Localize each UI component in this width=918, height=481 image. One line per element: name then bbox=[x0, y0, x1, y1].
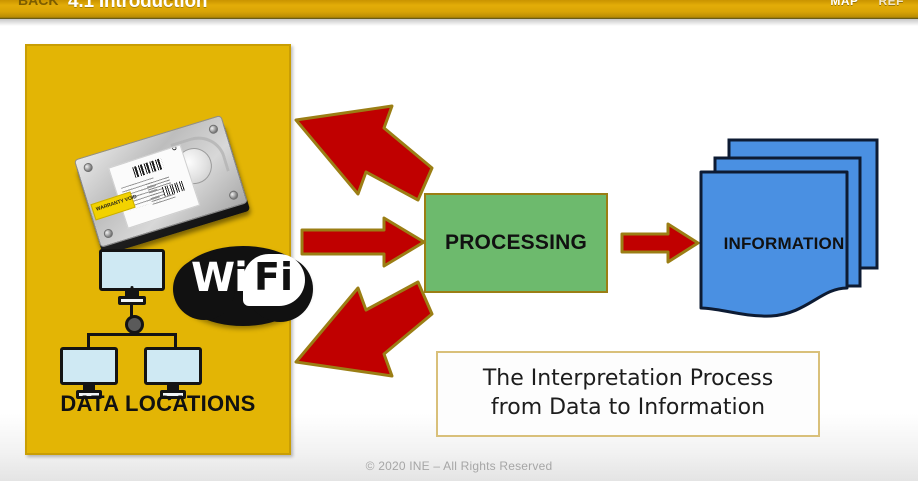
arrow-data-to-processing-middle bbox=[300, 216, 426, 268]
ref-button[interactable]: REF bbox=[879, 0, 905, 8]
arrow-data-to-processing-top bbox=[292, 106, 438, 206]
arrow-processing-to-information bbox=[620, 222, 700, 264]
data-locations-label: DATA LOCATIONS bbox=[27, 391, 289, 417]
data-locations-panel: HDD WARRANTY VOID bbox=[25, 44, 291, 455]
information-label: INFORMATION bbox=[709, 234, 859, 254]
information-document-stack: INFORMATION bbox=[697, 136, 883, 326]
page-title: 4.1 Introduction bbox=[68, 0, 207, 13]
processing-box: PROCESSING bbox=[424, 193, 608, 293]
back-button[interactable]: BACK bbox=[18, 0, 58, 8]
header-actions: MAP REF bbox=[830, 0, 904, 8]
header-shadow bbox=[0, 19, 918, 26]
map-button[interactable]: MAP bbox=[830, 0, 858, 8]
network-link-bus bbox=[87, 333, 177, 336]
caption-box: The Interpretation Process from Data to … bbox=[436, 351, 820, 437]
processing-label: PROCESSING bbox=[445, 231, 587, 255]
caption-line-2: from Data to Information bbox=[491, 396, 765, 421]
wifi-logo-text-fi: Fi bbox=[254, 258, 293, 296]
slide-root: BACK 4.1 Introduction MAP REF bbox=[0, 0, 918, 481]
network-hub-node bbox=[125, 315, 144, 334]
network-monitor-top bbox=[99, 249, 165, 307]
footer-copyright: © 2020 INE – All Rights Reserved bbox=[0, 459, 918, 473]
arrow-data-to-processing-bottom bbox=[292, 276, 438, 376]
top-header-bar: BACK 4.1 Introduction MAP REF bbox=[0, 0, 918, 19]
caption-line-1: The Interpretation Process bbox=[483, 367, 773, 392]
wifi-logo-text-wi: Wi bbox=[191, 258, 247, 298]
